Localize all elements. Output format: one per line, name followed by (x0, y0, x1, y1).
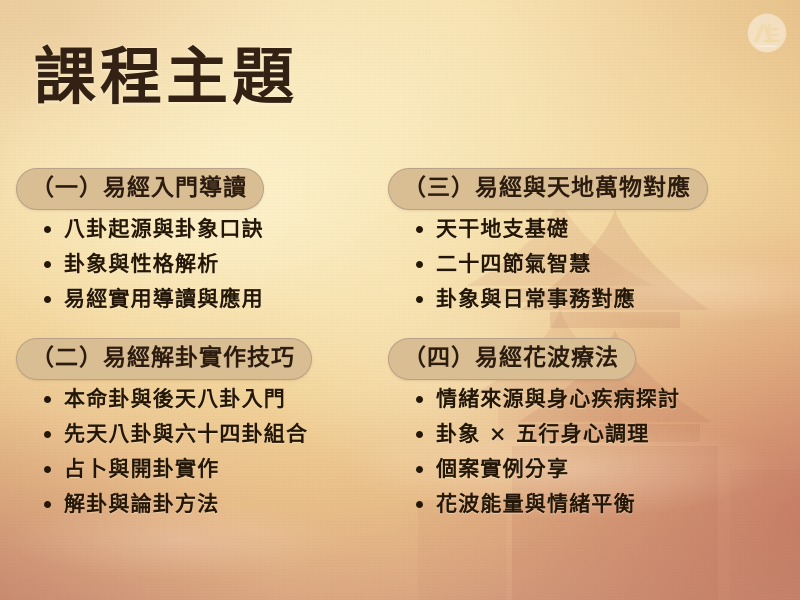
page-title: 課程主題 (34, 44, 298, 109)
section-list-two: 本命卦與後天八卦入門 先天八卦與六十四卦組合 占卜與開卦實作 解卦與論卦方法 (16, 388, 408, 514)
list-item: 本命卦與後天八卦入門 (44, 388, 408, 409)
section-heading-three[interactable]: （三）易經與天地萬物對應 (388, 168, 708, 210)
section-list-four: 情緒來源與身心疾病探討 卦象 × 五行身心調理 個案實例分享 花波能量與情緒平衡 (388, 388, 780, 514)
section-heading-two[interactable]: （二）易經解卦實作技巧 (16, 338, 312, 380)
list-item: 花波能量與情緒平衡 (416, 493, 780, 514)
list-item: 個案實例分享 (416, 458, 780, 479)
rensheng-circle-logo-icon (746, 12, 788, 54)
section-heading-one[interactable]: （一）易經入門導讀 (16, 168, 264, 210)
section-heading-four[interactable]: （四）易經花波療法 (388, 338, 636, 380)
list-item: 天干地支基礎 (416, 218, 780, 239)
list-item: 卦象 × 五行身心調理 (416, 423, 780, 444)
list-item: 卦象與性格解析 (44, 253, 408, 274)
section-card-four: （四）易經花波療法 情緒來源與身心疾病探討 卦象 × 五行身心調理 個案實例分享… (388, 338, 780, 528)
section-card-one: （一）易經入門導讀 八卦起源與卦象口訣 卦象與性格解析 易經實用導讀與應用 (16, 168, 408, 323)
list-item: 易經實用導讀與應用 (44, 288, 408, 309)
list-item: 占卜與開卦實作 (44, 458, 408, 479)
slide-canvas: 課程主題 （一）易經入門導讀 八卦起源與卦象口訣 卦象與性格解析 易經實用導讀與… (0, 0, 800, 600)
section-card-two: （二）易經解卦實作技巧 本命卦與後天八卦入門 先天八卦與六十四卦組合 占卜與開卦… (16, 338, 408, 528)
list-item: 解卦與論卦方法 (44, 493, 408, 514)
list-item: 情緒來源與身心疾病探討 (416, 388, 780, 409)
list-item: 八卦起源與卦象口訣 (44, 218, 408, 239)
section-list-one: 八卦起源與卦象口訣 卦象與性格解析 易經實用導讀與應用 (16, 218, 408, 309)
list-item: 卦象與日常事務對應 (416, 288, 780, 309)
section-list-three: 天干地支基礎 二十四節氣智慧 卦象與日常事務對應 (388, 218, 780, 309)
list-item: 二十四節氣智慧 (416, 253, 780, 274)
list-item: 先天八卦與六十四卦組合 (44, 423, 408, 444)
section-card-three: （三）易經與天地萬物對應 天干地支基礎 二十四節氣智慧 卦象與日常事務對應 (388, 168, 780, 323)
